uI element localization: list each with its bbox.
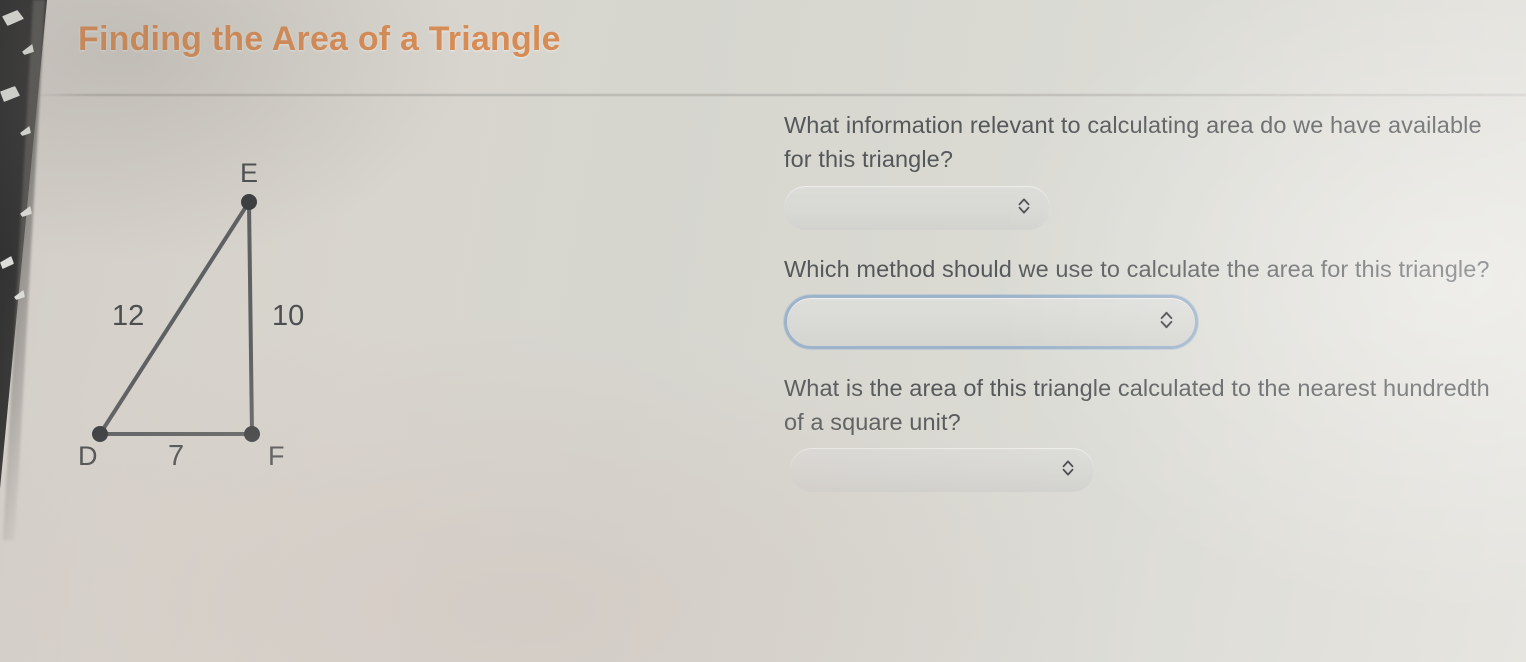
side-length-label-10: 10 [272,300,304,332]
vertex-label-F: F [268,441,285,471]
answer-dropdown-3[interactable] [790,448,1094,492]
triangle-figure: D E F 12 10 7 [40,140,400,500]
question-text-1: What information relevant to calculating… [784,108,1496,177]
answer-dropdown-1[interactable] [784,186,1050,230]
chevron-up-down-icon [1160,309,1173,335]
side-length-label-12: 12 [112,300,144,332]
worksheet-screenshot: Finding the Area of a Triangle D E F 12 … [0,0,1526,662]
vertex-dot-F [244,426,260,442]
side-length-label-7: 7 [168,440,184,472]
vertex-dot-E [241,194,257,210]
question-text-3: What is the area of this triangle calcul… [784,371,1496,440]
chevron-up-down-icon [1062,458,1074,482]
chevron-up-down-glyph [1160,309,1173,331]
question-block-2: Which method should we use to calculate … [784,252,1504,349]
chevron-up-down-glyph [1018,196,1030,216]
answer-dropdown-2[interactable] [784,295,1198,349]
question-panel: What information relevant to calculating… [784,108,1504,514]
header-divider [30,94,1526,96]
chevron-up-down-glyph [1062,458,1074,478]
question-text-2: Which method should we use to calculate … [784,252,1496,286]
vertex-label-E: E [240,158,258,188]
vertex-label-D: D [78,441,98,471]
vertex-dot-D [92,426,108,442]
header: Finding the Area of a Triangle [0,0,1526,94]
chevron-up-down-icon [1018,196,1030,220]
question-block-3: What is the area of this triangle calcul… [784,371,1504,493]
page-title: Finding the Area of a Triangle [78,20,561,59]
question-block-1: What information relevant to calculating… [784,108,1504,230]
triangle-side-EF [249,202,252,434]
triangle-svg: D E F 12 10 7 [40,140,400,500]
